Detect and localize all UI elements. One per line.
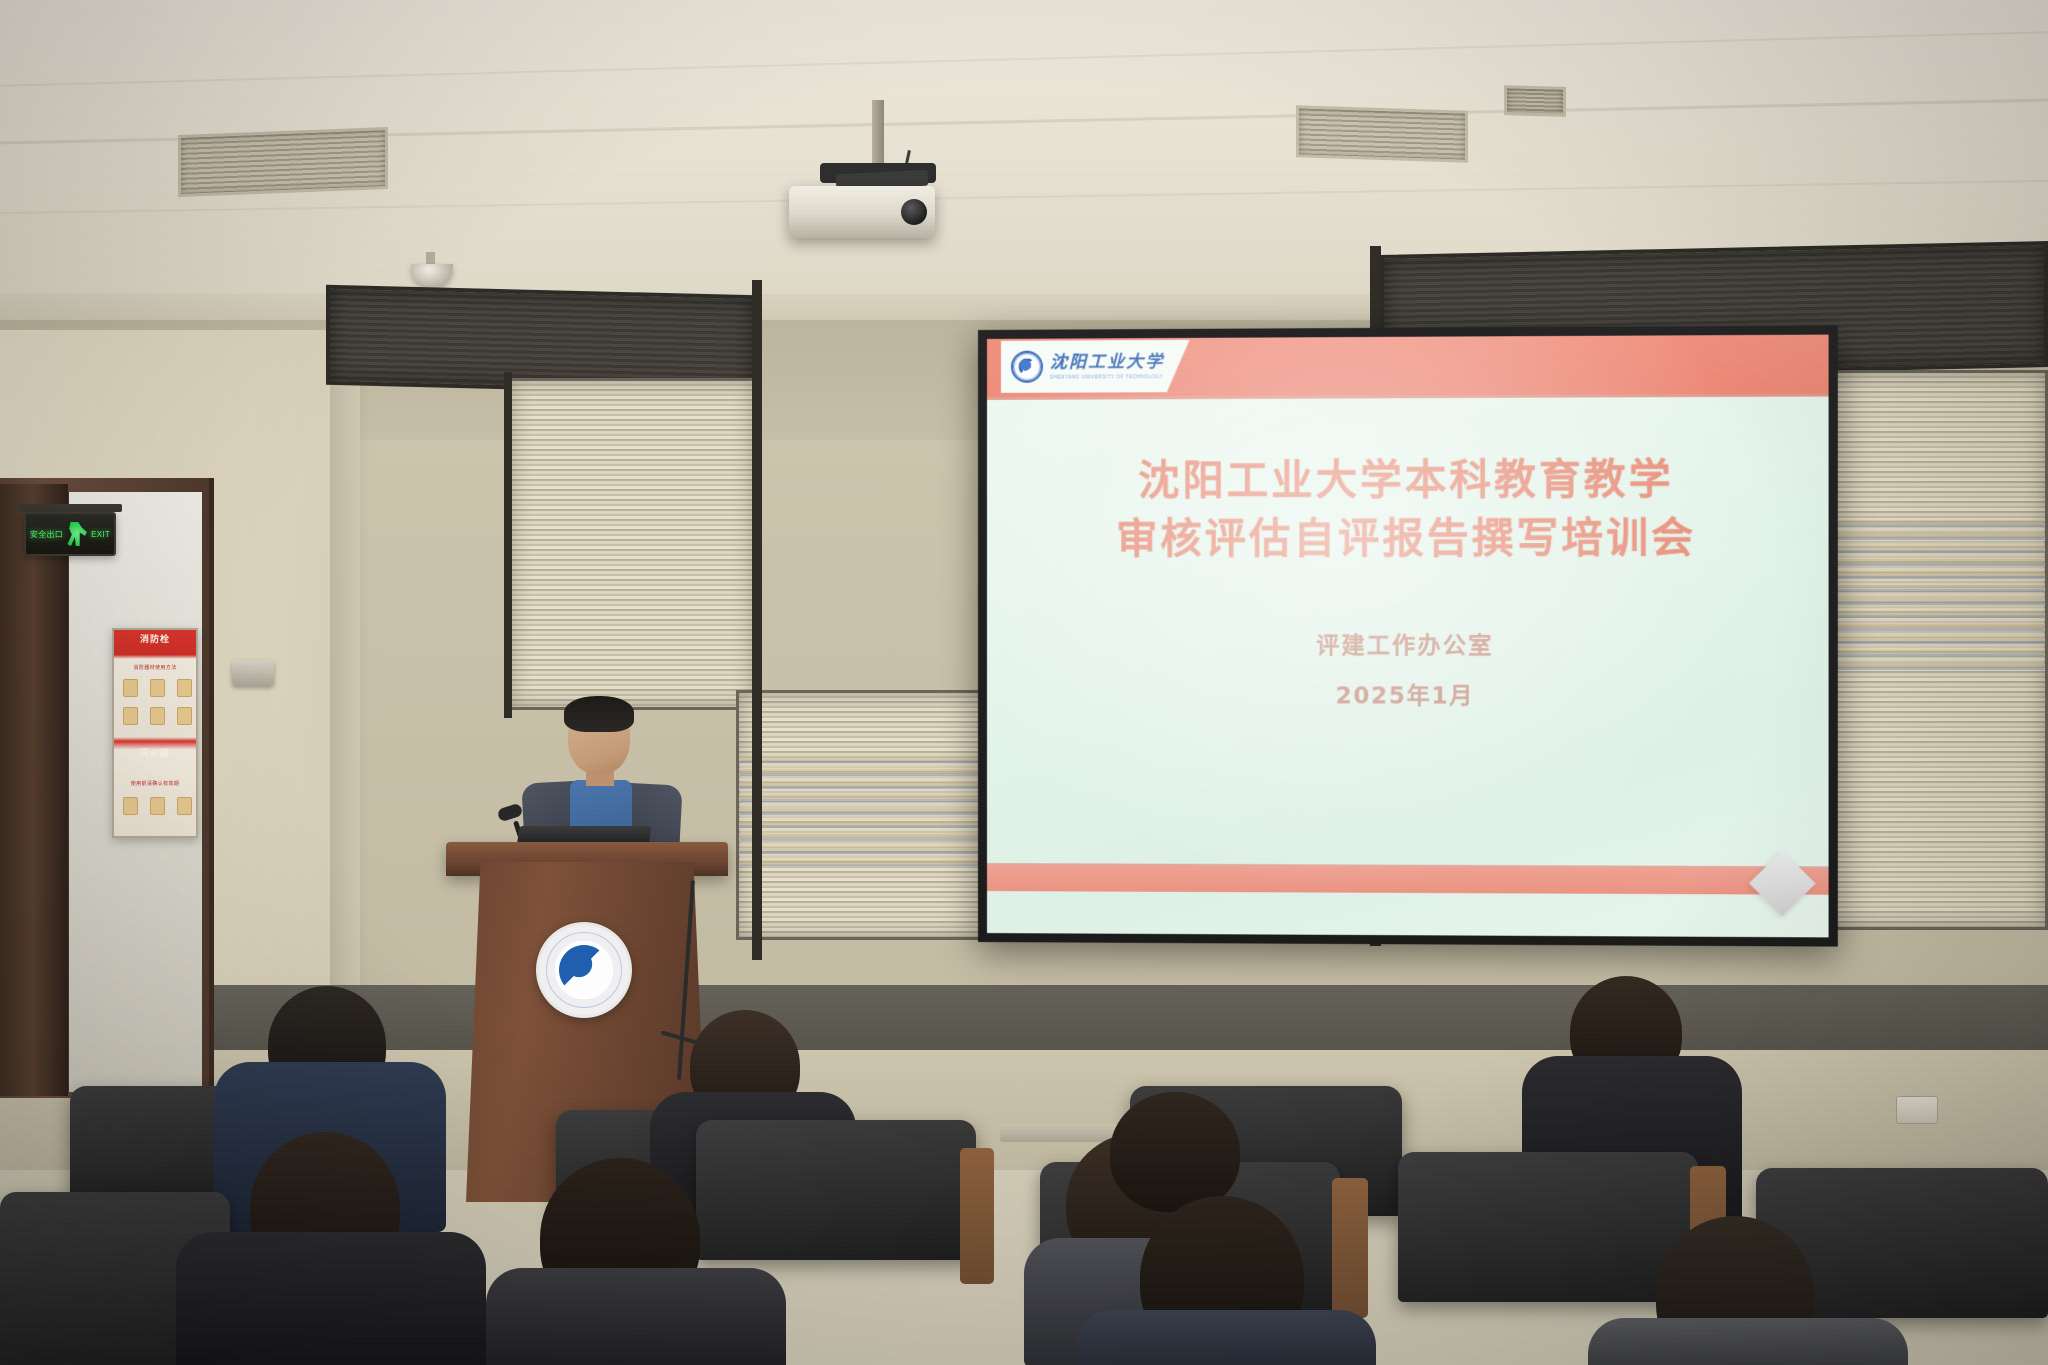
- exit-sign: 安全出口 EXIT: [24, 512, 116, 556]
- poster-icon-cell: [177, 707, 192, 725]
- poster-subheading: 消防器材使用方法: [114, 664, 196, 671]
- poster-icon-cell: [177, 797, 192, 815]
- presenter-hair: [564, 696, 634, 732]
- door-panel[interactable]: [0, 484, 68, 1096]
- audience-head: [1110, 1092, 1240, 1212]
- slide-title-line-2: 审核评估自评报告撰写培训会: [1116, 509, 1696, 569]
- ceiling-vent: [1504, 85, 1566, 117]
- window-blind-light: [508, 378, 756, 710]
- fire-safety-poster: 消防栓 消防器材使用方法 灭火器 使用前请确认有效期: [112, 628, 198, 838]
- door-handle[interactable]: [232, 660, 274, 686]
- slide-date: 2025年1月: [1336, 677, 1474, 711]
- ceiling-vent: [1296, 105, 1468, 162]
- exit-sign-bracket: [18, 504, 122, 512]
- poster-footer: 灭火器: [114, 746, 196, 759]
- poster-icon-cell: [123, 797, 138, 815]
- poster-icon-cell: [177, 679, 192, 697]
- projector-icon: [789, 186, 935, 238]
- poster-footer-sub: 使用前请确认有效期: [114, 780, 196, 787]
- slide-bottom-accent-bar: [987, 865, 1829, 895]
- poster-icon-row: [118, 794, 196, 818]
- conference-room-photo: 安全出口 EXIT 消防栓 消防器材使用方法 灭火器 使用前请确认有效期: [0, 0, 2048, 1365]
- slide-logo-banner: 沈阳工业大学 SHENYANG UNIVERSITY OF TECHNOLOGY: [1001, 340, 1190, 393]
- ceiling-vent: [178, 127, 388, 197]
- poster-icon-cell: [123, 679, 138, 697]
- running-person-icon: [66, 522, 88, 546]
- window-mullion: [752, 280, 762, 960]
- slide-title-line-1: 沈阳工业大学本科教育教学: [1138, 450, 1673, 510]
- slide-subtitle: 评建工作办公室: [1316, 626, 1493, 660]
- audience-body: [486, 1268, 786, 1365]
- slide-surface: 沈阳工业大学 SHENYANG UNIVERSITY OF TECHNOLOGY…: [987, 335, 1829, 938]
- university-seal-icon: [1011, 351, 1043, 383]
- university-name-cn: 沈阳工业大学: [1050, 354, 1164, 372]
- poster-icon-row: [118, 676, 196, 700]
- university-emblem-icon: [536, 922, 632, 1018]
- seat: [1398, 1152, 1698, 1302]
- poster-icon-cell: [150, 797, 165, 815]
- university-name-block: 沈阳工业大学 SHENYANG UNIVERSITY OF TECHNOLOGY: [1050, 354, 1164, 380]
- audience-body: [1588, 1318, 1908, 1365]
- poster-icon-cell: [123, 707, 138, 725]
- poster-icon-cell: [150, 679, 165, 697]
- exit-sign-label-left: 安全出口: [30, 529, 63, 540]
- projector-mount: [872, 100, 884, 172]
- poster-heading: 消防栓: [114, 632, 196, 645]
- wall-shadow: [330, 330, 370, 1090]
- power-outlet: [1896, 1096, 1938, 1124]
- university-name-en: SHENYANG UNIVERSITY OF TECHNOLOGY: [1050, 374, 1164, 380]
- window-mullion: [504, 372, 512, 718]
- poster-icon-row: [118, 704, 196, 728]
- seat-armrest: [1332, 1178, 1368, 1318]
- poster-icon-cell: [150, 707, 165, 725]
- projection-screen: 沈阳工业大学 SHENYANG UNIVERSITY OF TECHNOLOGY…: [978, 325, 1838, 946]
- slide-content: 沈阳工业大学本科教育教学 审核评估自评报告撰写培训会 评建工作办公室 2025年…: [987, 396, 1829, 937]
- audience-body: [1076, 1310, 1376, 1365]
- audience-body: [176, 1232, 486, 1365]
- exit-sign-label-right: EXIT: [91, 530, 110, 539]
- seat-armrest: [960, 1148, 994, 1284]
- seat: [696, 1120, 976, 1260]
